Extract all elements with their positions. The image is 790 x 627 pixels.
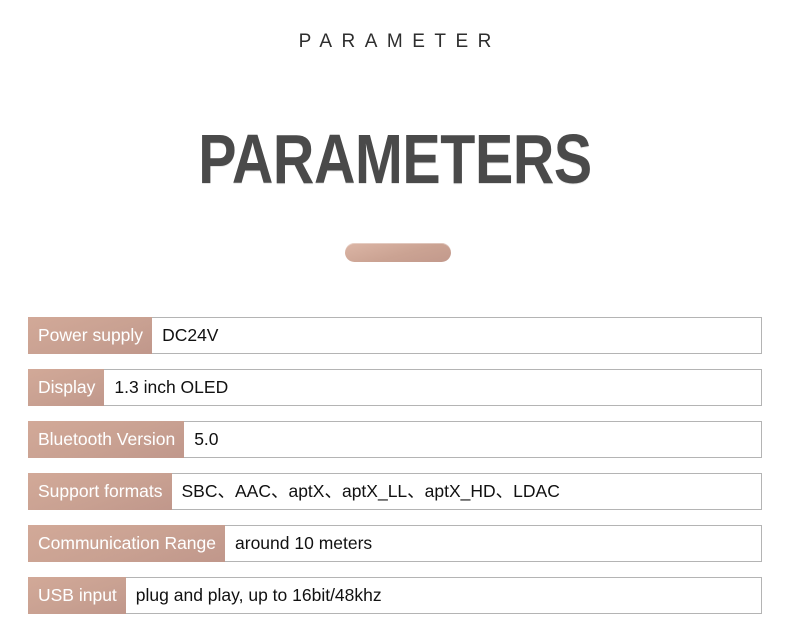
spec-value: around 10 meters: [225, 526, 761, 561]
spec-label: USB input: [28, 577, 126, 614]
table-row: USB input plug and play, up to 16bit/48k…: [28, 577, 762, 614]
divider-pill: [345, 243, 451, 262]
table-row: Support formats SBC、AAC、aptX、aptX_LL、apt…: [28, 473, 762, 510]
table-row: Power supply DC24V: [28, 317, 762, 354]
table-row: Display 1.3 inch OLED: [28, 369, 762, 406]
spec-label: Power supply: [28, 317, 152, 354]
table-row: Communication Range around 10 meters: [28, 525, 762, 562]
spec-value: 1.3 inch OLED: [104, 370, 761, 405]
spec-label: Communication Range: [28, 525, 225, 562]
page-title: PARAMETERS: [71, 122, 719, 196]
spec-label: Display: [28, 369, 104, 406]
table-row: Bluetooth Version 5.0: [28, 421, 762, 458]
spec-value: 5.0: [184, 422, 761, 457]
parameters-page: PARAMETER PARAMETERS Power supply DC24V …: [0, 0, 790, 627]
spec-value: DC24V: [152, 318, 761, 353]
spec-table: Power supply DC24V Display 1.3 inch OLED…: [28, 317, 762, 614]
spec-label: Bluetooth Version: [28, 421, 184, 458]
spec-value: SBC、AAC、aptX、aptX_LL、aptX_HD、LDAC: [172, 474, 762, 509]
spec-value: plug and play, up to 16bit/48khz: [126, 578, 761, 613]
eyebrow-title: PARAMETER: [0, 29, 790, 55]
spec-label: Support formats: [28, 473, 172, 510]
